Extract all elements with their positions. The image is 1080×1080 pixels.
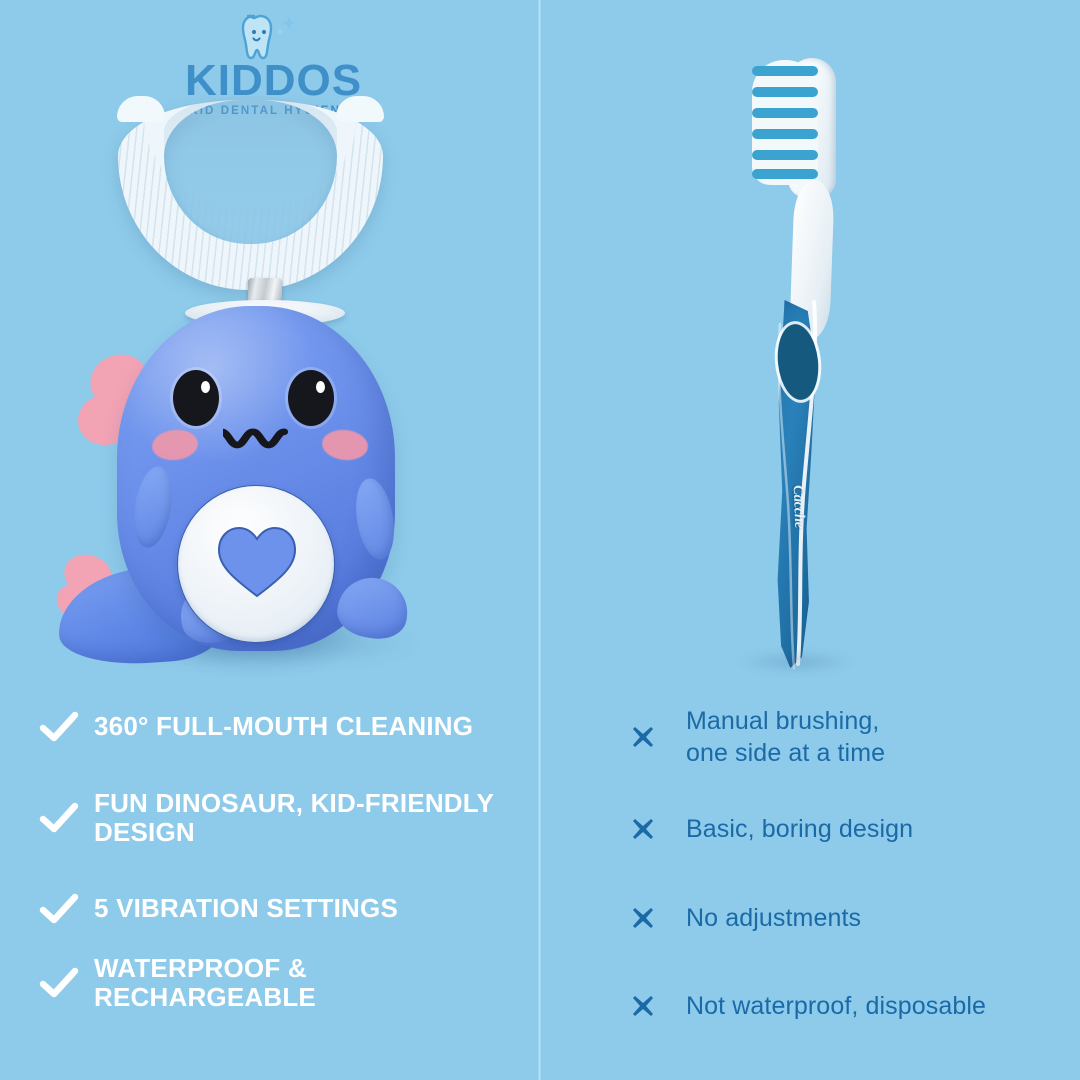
list-item: WATERPROOF & RECHARGEABLE (36, 946, 536, 1020)
heart-icon (213, 522, 301, 602)
bristle-row (752, 150, 818, 160)
bristle-row (752, 108, 818, 118)
dino-mouth (223, 428, 295, 454)
list-item-label: No adjustments (686, 902, 861, 934)
cross-icon (626, 989, 660, 1023)
cross-icon (626, 812, 660, 846)
eye-highlight (201, 381, 210, 393)
dinosaur-body (60, 300, 430, 675)
dino-eye-right (288, 370, 334, 426)
mouthpiece-tip-right (336, 96, 384, 122)
check-icon (36, 795, 82, 841)
brush-shadow (736, 650, 856, 674)
dino-eye-left (173, 370, 219, 426)
list-item: No adjustments (626, 874, 1066, 962)
smiling-tooth-icon (185, 12, 355, 62)
check-icon (36, 960, 82, 1006)
list-item: Basic, boring design (626, 784, 1066, 874)
check-icon (36, 704, 82, 750)
manual-toothbrush: Cacche (700, 50, 900, 670)
list-item: FUN DINOSAUR, KID-FRIENDLY DESIGN (36, 764, 536, 872)
list-item-label: FUN DINOSAUR, KID-FRIENDLY DESIGN (94, 789, 536, 847)
heart-power-button[interactable] (177, 485, 335, 643)
list-item: Not waterproof, disposable (626, 962, 1066, 1050)
cross-icon (626, 720, 660, 754)
check-icon (36, 886, 82, 932)
bristle-row (752, 66, 818, 76)
bristle-row (752, 169, 818, 179)
u-shaped-mouthpiece (118, 100, 383, 290)
brand-name: KIDDOS (185, 60, 355, 102)
bristle-head (752, 60, 818, 185)
list-item-label: 360° FULL-MOUTH CLEANING (94, 712, 473, 741)
bristle-row (752, 129, 818, 139)
mouthpiece-tip-left (117, 96, 165, 122)
list-item: Manual brushing, one side at a time (626, 690, 1066, 784)
handle-brand-text: Cacche (789, 480, 808, 533)
cons-list: Manual brushing, one side at a time Basi… (626, 690, 1066, 1050)
list-item: 360° FULL-MOUTH CLEANING (36, 690, 536, 764)
list-item-label: Basic, boring design (686, 813, 913, 845)
bristle-base (752, 60, 818, 185)
toothbrush-handle: Cacche (760, 300, 834, 668)
column-divider (538, 0, 541, 1080)
list-item: 5 VIBRATION SETTINGS (36, 872, 536, 946)
list-item-label: WATERPROOF & RECHARGEABLE (94, 954, 536, 1012)
bristle-row (752, 87, 818, 97)
eye-highlight (316, 381, 325, 393)
list-item-label: Manual brushing, one side at a time (686, 705, 885, 769)
list-item-label: 5 VIBRATION SETTINGS (94, 894, 398, 923)
cross-icon (626, 901, 660, 935)
list-item-label: Not waterproof, disposable (686, 990, 986, 1022)
pros-list: 360° FULL-MOUTH CLEANING FUN DINOSAUR, K… (36, 690, 536, 1020)
comparison-infographic: KIDDOS KID DENTAL HYGIENE (0, 0, 1080, 1080)
